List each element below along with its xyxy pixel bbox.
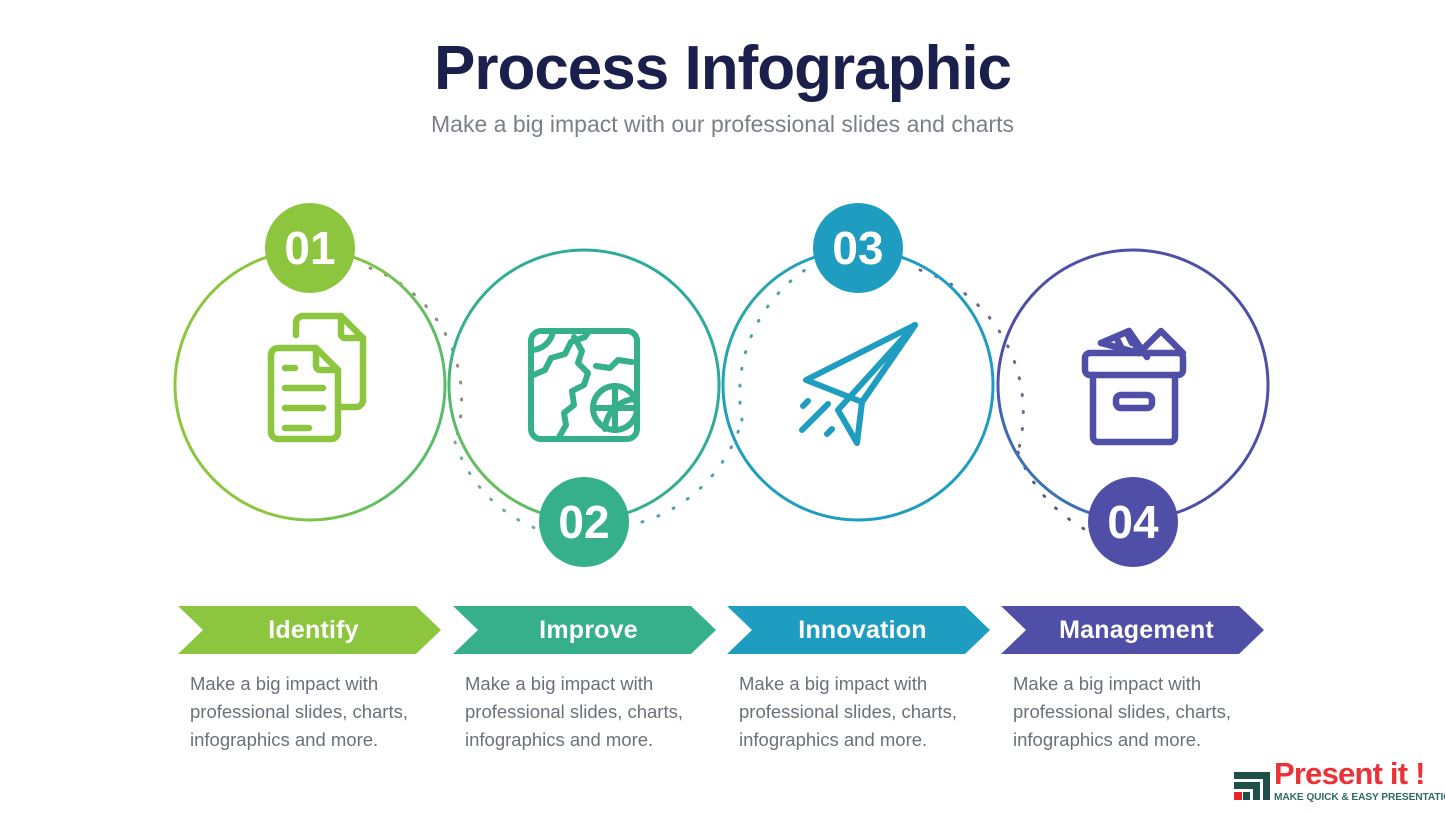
- connector-dots-1-2: [370, 268, 462, 442]
- step-badge-1: 01: [265, 203, 355, 293]
- step-ribbon-management[interactable]: Management: [1001, 606, 1264, 654]
- step-badge-4: 04: [1088, 477, 1178, 567]
- step-badge-2: 02: [539, 477, 629, 567]
- paper-plane-icon: [802, 325, 915, 443]
- step-badge-number-1: 01: [284, 222, 335, 274]
- page-title: Process Infographic: [0, 36, 1445, 103]
- step-description-1: Make a big impact with professional slid…: [190, 670, 430, 753]
- step-ribbon-label-4: Management: [1051, 616, 1214, 645]
- logo-bars-icon: [1232, 760, 1270, 802]
- step-badge-number-3: 03: [832, 222, 883, 274]
- step-ribbon-improve[interactable]: Improve: [453, 606, 716, 654]
- step-description-3: Make a big impact with professional slid…: [739, 670, 979, 753]
- archive-box-icon: [1085, 331, 1183, 442]
- slide-canvas: Process Infographic Make a big impact wi…: [0, 0, 1445, 814]
- connector-dots-3a: [740, 270, 805, 420]
- logo-text: Present it ! MAKE QUICK & EASY PRESENTAT…: [1274, 758, 1445, 803]
- page-subtitle: Make a big impact with our professional …: [0, 111, 1445, 139]
- connector-dots-3-4: [920, 270, 1023, 452]
- logo-name: Present it !: [1274, 758, 1445, 789]
- step-ribbon-identify[interactable]: Identify: [178, 606, 441, 654]
- connector-dots-2-3: [642, 420, 742, 522]
- step-ribbon-label-3: Innovation: [790, 616, 926, 645]
- step-description-2: Make a big impact with professional slid…: [465, 670, 705, 753]
- logo-tagline: MAKE QUICK & EASY PRESENTATIONS: [1274, 793, 1445, 803]
- step-description-4: Make a big impact with professional slid…: [1013, 670, 1253, 753]
- step-badge-3: 03: [813, 203, 903, 293]
- brand-logo: Present it ! MAKE QUICK & EASY PRESENTAT…: [1232, 758, 1440, 806]
- step-badge-number-4: 04: [1107, 496, 1159, 548]
- header: Process Infographic Make a big impact wi…: [0, 36, 1445, 139]
- process-diagram: 01 02 03 04: [0, 180, 1445, 580]
- documents-icon: [271, 316, 363, 439]
- map-icon: [531, 331, 637, 439]
- step-badge-number-2: 02: [558, 496, 609, 548]
- connector-dots-4a: [1018, 452, 1086, 530]
- step-ribbon-innovation[interactable]: Innovation: [727, 606, 990, 654]
- step-ribbon-label-2: Improve: [531, 616, 638, 645]
- step-ribbon-label-1: Identify: [260, 616, 359, 645]
